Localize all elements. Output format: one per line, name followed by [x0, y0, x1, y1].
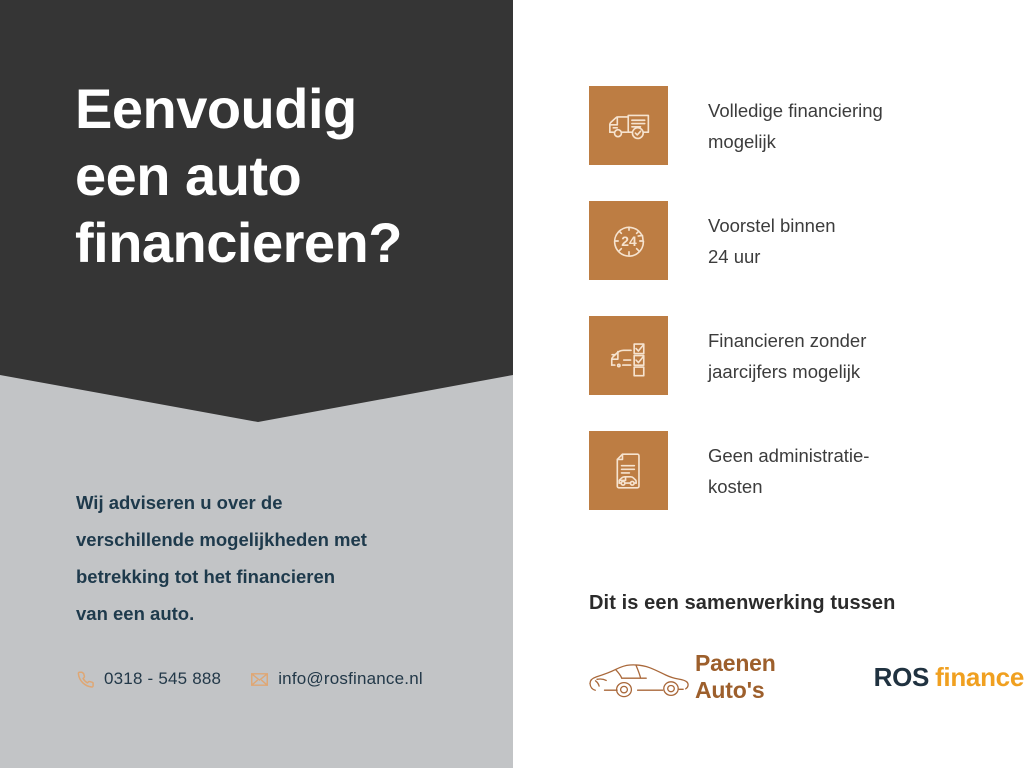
feature-label: Voorstel binnen 24 uur	[708, 210, 836, 272]
left-panel: Eenvoudig een auto financieren? Wij advi…	[0, 0, 513, 768]
phone-contact[interactable]: 0318 - 545 888	[76, 669, 221, 689]
feature-item: Volledige financiering mogelijk	[589, 86, 883, 165]
phone-number: 0318 - 545 888	[104, 669, 221, 689]
car-outline-icon	[587, 655, 699, 699]
feature-item: Geen administratie- kosten	[589, 431, 883, 510]
feature-label: Geen administratie- kosten	[708, 440, 869, 502]
feature-label: Financieren zonder jaarcijfers mogelijk	[708, 325, 866, 387]
delivery-truck-document-check-icon	[589, 86, 668, 165]
phone-icon	[76, 670, 95, 689]
feature-item: 24 Voorstel binnen 24 uur	[589, 201, 883, 280]
paenen-autos-wordmark: Paenen Auto's	[695, 650, 838, 704]
feature-label: Volledige financiering mogelijk	[708, 95, 883, 157]
finance-wordmark: finance	[935, 662, 1024, 692]
feature-list: Volledige financiering mogelijk 24 Voors…	[589, 86, 883, 546]
document-car-icon	[589, 431, 668, 510]
intro-paragraph: Wij adviseren u over de verschillende mo…	[76, 484, 476, 632]
partner-heading: Dit is een samenwerking tussen	[589, 592, 895, 615]
email-address: info@rosfinance.nl	[278, 669, 423, 689]
svg-text:24: 24	[621, 233, 637, 249]
contact-row: 0318 - 545 888 info@rosfinance.nl	[76, 669, 423, 689]
clock-24-hour-icon: 24	[589, 201, 668, 280]
promo-banner: Eenvoudig een auto financieren? Wij advi…	[0, 0, 1024, 768]
car-checklist-icon	[589, 316, 668, 395]
envelope-icon	[250, 670, 269, 689]
feature-item: Financieren zonder jaarcijfers mogelijk	[589, 316, 883, 395]
right-panel: Volledige financiering mogelijk 24 Voors…	[513, 0, 1024, 768]
ros-finance-logo[interactable]: ROSfinance	[874, 662, 1024, 693]
email-contact[interactable]: info@rosfinance.nl	[250, 669, 423, 689]
partner-logo-row: Paenen Auto's ROSfinance	[587, 650, 1024, 704]
page-title: Eenvoudig een auto financieren?	[75, 75, 495, 276]
paenen-autos-logo[interactable]: Paenen Auto's	[587, 650, 838, 704]
ros-wordmark: ROS	[874, 662, 929, 692]
